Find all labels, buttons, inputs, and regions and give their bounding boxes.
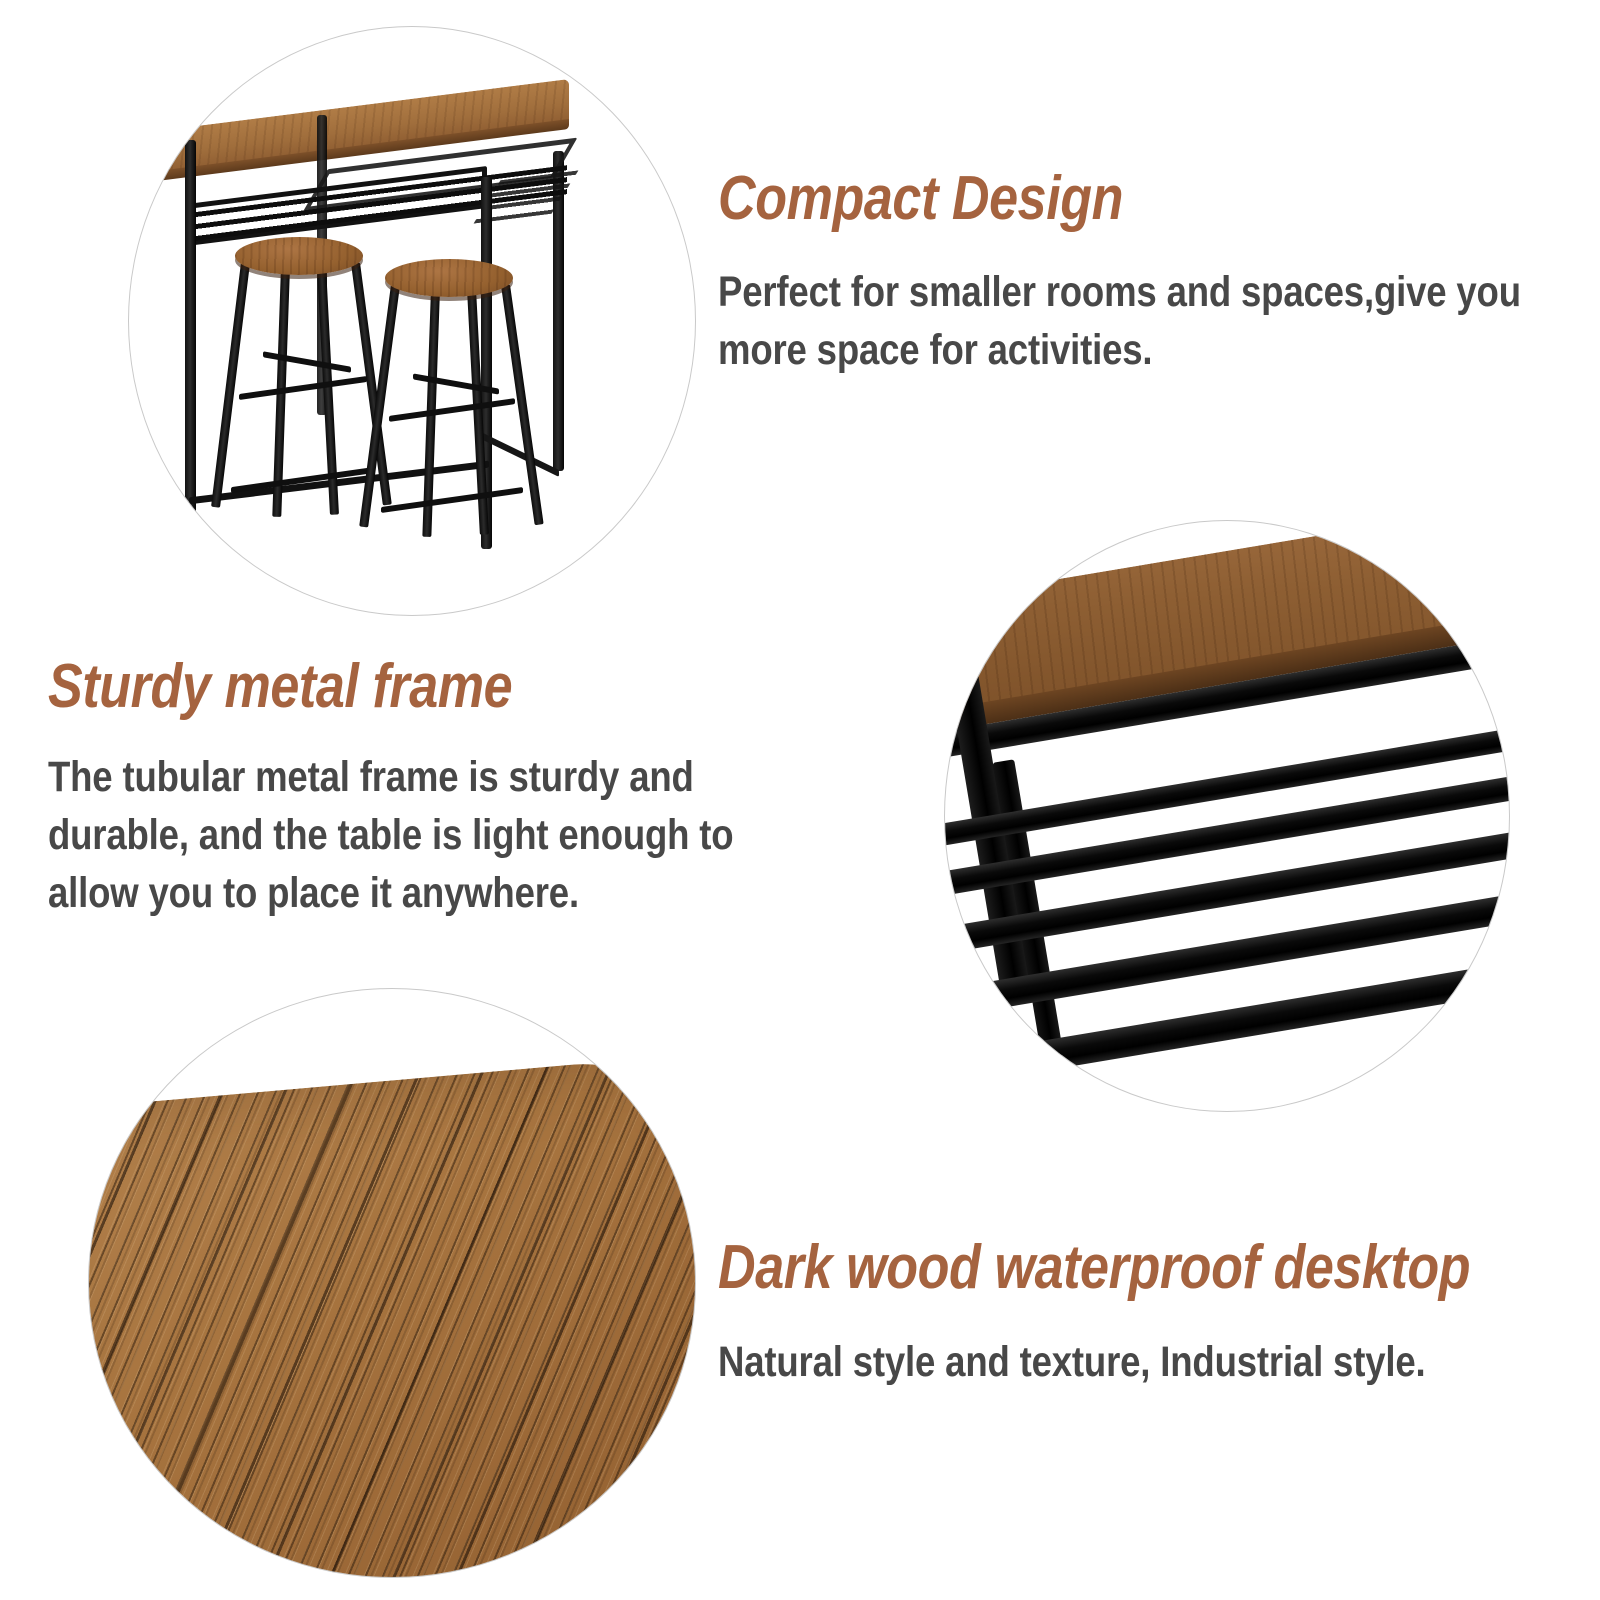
feature-body-dark-wood-desktop: Natural style and texture, Industrial st… [718,1333,1600,1391]
feature-heading-sturdy-metal-frame: Sturdy metal frame [48,651,512,722]
photo-clip-metal-frame [945,521,1509,1111]
bar-table-set-illustration [129,27,695,615]
product-photo-wood-desktop [88,988,696,1578]
feature-body-compact-design: Perfect for smaller rooms and spaces,giv… [718,263,1600,379]
photo-clip-wood-desktop [89,989,695,1577]
infographic-canvas: Compact Design Perfect for smaller rooms… [0,0,1600,1600]
stool-leg [211,262,250,507]
product-photo-compact-design [128,26,696,616]
stool-bottom-ring [381,487,523,513]
feature-body-sturdy-metal-frame: The tubular metal frame is sturdy and du… [48,748,813,922]
stool-wood-seat [385,259,513,297]
photo-clip-compact [129,27,695,615]
product-photo-metal-frame [944,520,1510,1112]
stool-footrest-ring [239,376,367,400]
table-leg-front-left [185,140,196,515]
wood-tabletop-corner [89,1052,695,1577]
wood-grain-closeup-illustration [89,989,695,1577]
stool-wood-seat [235,237,363,275]
feature-heading-dark-wood-desktop: Dark wood waterproof desktop [718,1232,1470,1303]
stool-footrest-ring [389,398,515,422]
feature-heading-compact-design: Compact Design [718,163,1123,234]
metal-shelf-closeup-illustration [945,521,1509,1111]
stool-footrest-ring-back [263,351,351,373]
table-foot-rail-side [481,432,559,477]
